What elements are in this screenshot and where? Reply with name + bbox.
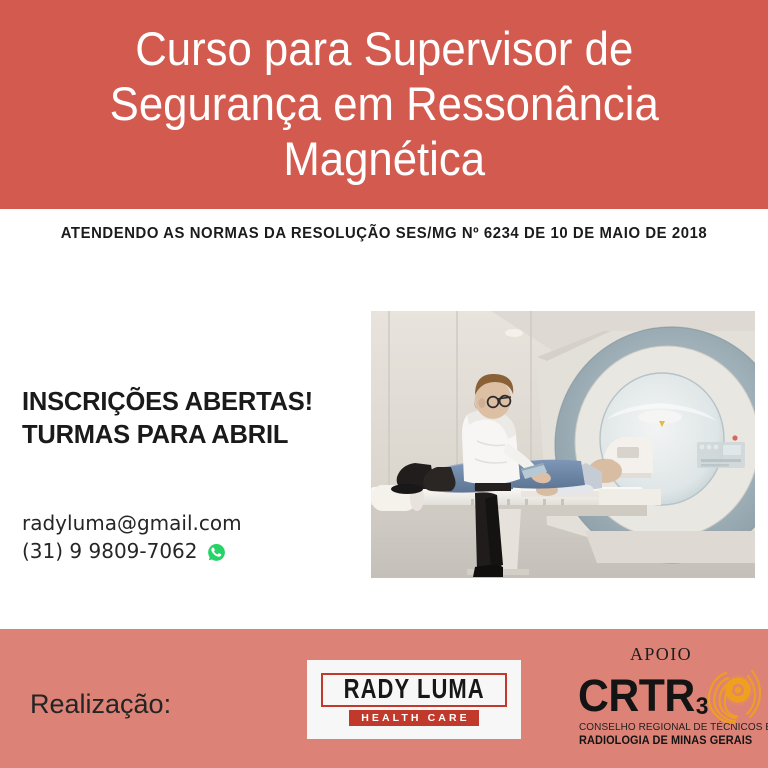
radiation-trefoil-icon xyxy=(704,663,764,725)
email-text[interactable]: radyluma@gmail.com xyxy=(22,509,242,537)
crtr3-logo: CRTR3 CONSELHO REGIONAL DE TÉCNICOS EM R… xyxy=(578,673,764,753)
phone-text[interactable]: (31) 9 9809-7062 xyxy=(22,537,198,565)
contact-block: radyluma@gmail.com (31) 9 9809-7062 xyxy=(22,509,362,566)
realizacao-label: Realização: xyxy=(30,691,171,718)
contact-email-row: radyluma@gmail.com xyxy=(22,509,362,537)
whatsapp-icon[interactable] xyxy=(206,542,227,563)
contact-phone-row: (31) 9 9809-7062 xyxy=(22,537,362,565)
subtitle-text: ATENDENDO AS NORMAS DA RESOLUÇÃO SES/MG … xyxy=(54,222,714,247)
subtitle-container: ATENDENDO AS NORMAS DA RESOLUÇÃO SES/MG … xyxy=(40,222,728,247)
rady-luma-name: RADY LUMA xyxy=(343,675,484,705)
crtr3-subtitle-line-2: RADIOLOGIA DE MINAS GERAIS xyxy=(579,736,752,748)
callout-line-2: TURMAS PARA ABRIL xyxy=(22,419,362,452)
enrollment-callout: INSCRIÇÕES ABERTAS! TURMAS PARA ABRIL xyxy=(22,386,362,451)
callout-line-1: INSCRIÇÕES ABERTAS! xyxy=(22,386,362,419)
crtr3-acronym: CRTR3 xyxy=(578,673,707,718)
rady-luma-tagline: HEALTH CARE xyxy=(349,710,479,726)
page-title: Curso para Supervisor de Segurança em Re… xyxy=(109,22,658,187)
rady-luma-logo: RADY LUMA HEALTH CARE xyxy=(307,660,521,739)
rady-luma-name-box: RADY LUMA xyxy=(321,673,507,707)
crtr3-acronym-text: CRTR xyxy=(578,670,695,721)
mri-room-photo xyxy=(371,311,755,578)
header-band: Curso para Supervisor de Segurança em Re… xyxy=(0,0,768,209)
poster-canvas: Curso para Supervisor de Segurança em Re… xyxy=(0,0,768,768)
